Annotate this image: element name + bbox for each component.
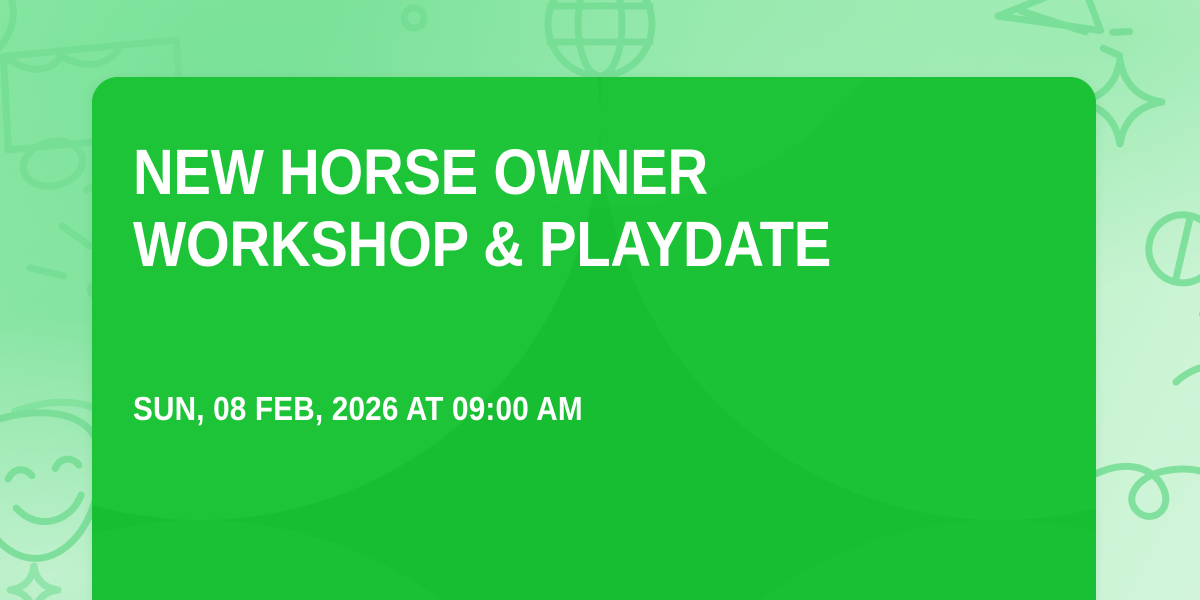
- card-content: NEW HORSE OWNER WORKSHOP & PLAYDATE SUN,…: [133, 77, 1056, 600]
- globe-doodle: [548, 0, 652, 76]
- microphone-doodle: [1136, 202, 1200, 323]
- sparkle-small-doodle: [10, 566, 58, 600]
- streamer-doodle: [1078, 366, 1200, 600]
- star-doodle: [404, 8, 424, 28]
- party-popper-doodle: [998, 0, 1140, 56]
- event-title: NEW HORSE OWNER WORKSHOP & PLAYDATE: [133, 137, 945, 280]
- event-banner: NEW HORSE OWNER WORKSHOP & PLAYDATE SUN,…: [0, 0, 1200, 600]
- event-datetime: SUN, 08 FEB, 2026 AT 09:00 AM: [133, 391, 583, 427]
- event-card[interactable]: NEW HORSE OWNER WORKSHOP & PLAYDATE SUN,…: [92, 77, 1096, 600]
